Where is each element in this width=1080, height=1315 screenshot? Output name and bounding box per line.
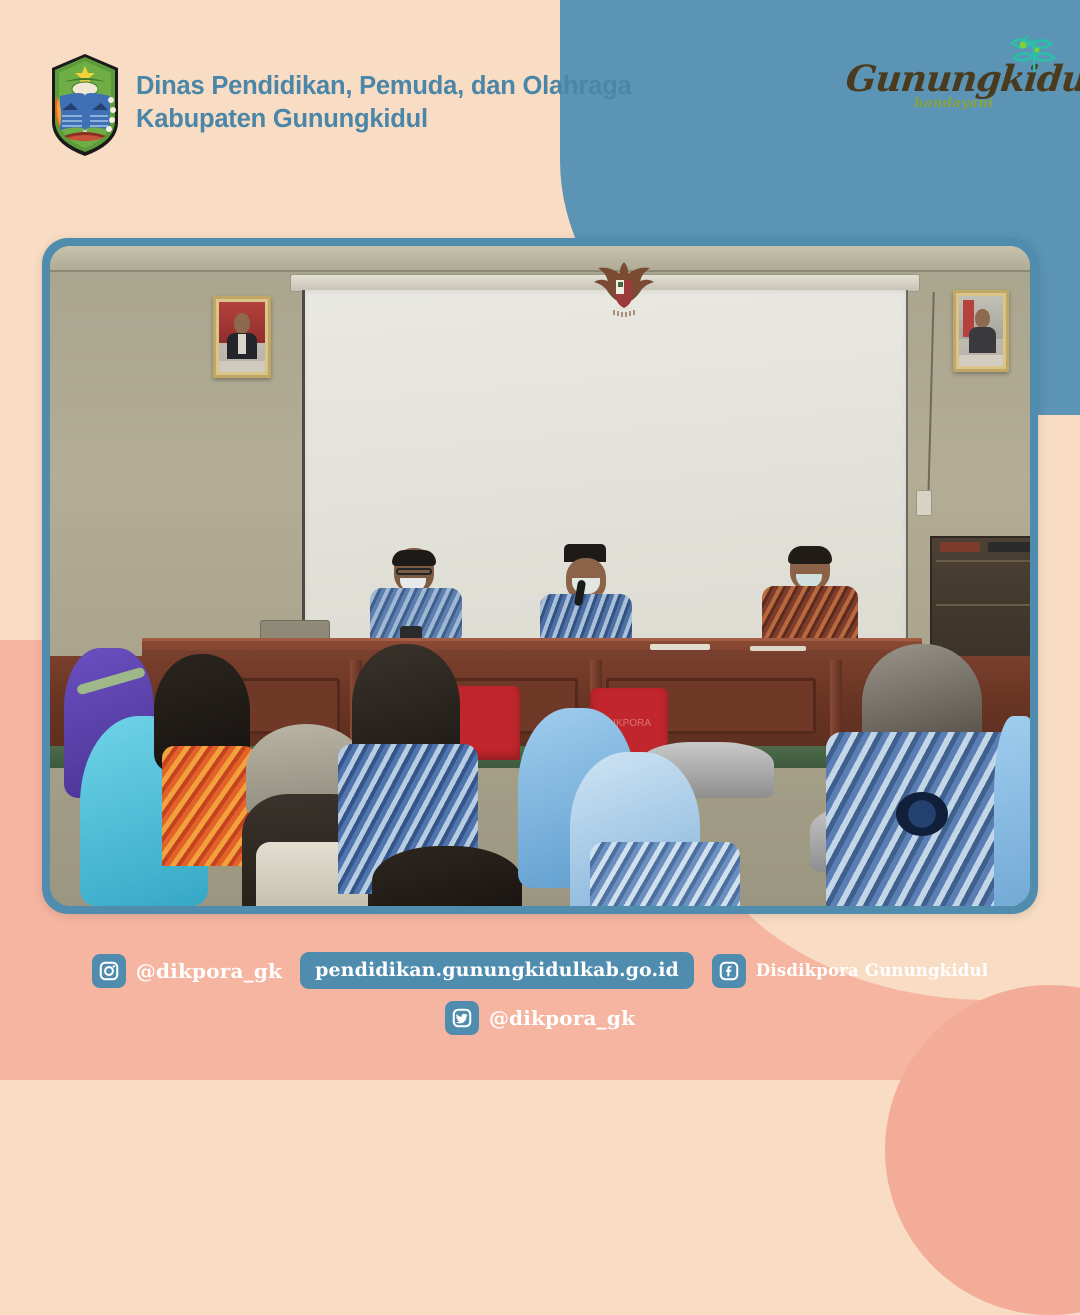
header: Dinas Pendidikan, Pemuda, dan Olahraga K…: [0, 0, 1080, 200]
audience-head-foreground: [372, 846, 522, 906]
paper-on-table: [750, 646, 806, 651]
page-title: Dinas Pendidikan, Pemuda, dan Olahraga K…: [136, 70, 631, 136]
facebook-link[interactable]: Disdikpora Gunungkidul: [712, 954, 988, 988]
paper-on-table: [650, 644, 710, 650]
garuda-pancasila-emblem-icon: [588, 256, 660, 322]
audience-blue-hijab-edge: [994, 716, 1030, 906]
gunungkidul-brand-logo: Gunungkidul handayani: [836, 34, 1066, 124]
ceiling-cornice: [50, 246, 1030, 272]
instagram-handle: @dikpora_gk: [136, 959, 282, 983]
panelist-left: [370, 548, 462, 650]
instagram-link[interactable]: @dikpora_gk: [92, 954, 282, 988]
gunungkidul-regency-crest-icon: [44, 52, 126, 158]
social-row-primary: @dikpora_gk pendidikan.gunungkidulkab.go…: [0, 952, 1080, 989]
panelist-center-speaker: [540, 544, 632, 650]
social-footer: @dikpora_gk pendidikan.gunungkidulkab.go…: [0, 952, 1080, 1035]
social-row-secondary: @dikpora_gk: [0, 1001, 1080, 1035]
twitter-link[interactable]: @dikpora_gk: [445, 1001, 635, 1035]
vice-president-portrait: [953, 290, 1009, 372]
panelist-right: [762, 546, 858, 650]
green-dragonfly-ornament-icon: [1004, 34, 1060, 86]
photo-card: DIKPORA: [42, 238, 1038, 914]
meeting-photo: DIKPORA: [50, 246, 1030, 906]
twitter-handle: @dikpora_gk: [489, 1006, 635, 1030]
brand-tagline: handayani: [914, 96, 994, 111]
facebook-icon[interactable]: [712, 954, 746, 988]
president-portrait: [213, 296, 271, 378]
facebook-page-name: Disdikpora Gunungkidul: [756, 961, 988, 980]
twitter-icon[interactable]: [445, 1001, 479, 1035]
audience-korpri-batik: [590, 842, 740, 906]
korpri-emblem: [896, 792, 948, 836]
wall-outlet: [916, 490, 932, 516]
instagram-icon[interactable]: [92, 954, 126, 988]
website-url-badge[interactable]: pendidikan.gunungkidulkab.go.id: [300, 952, 694, 989]
